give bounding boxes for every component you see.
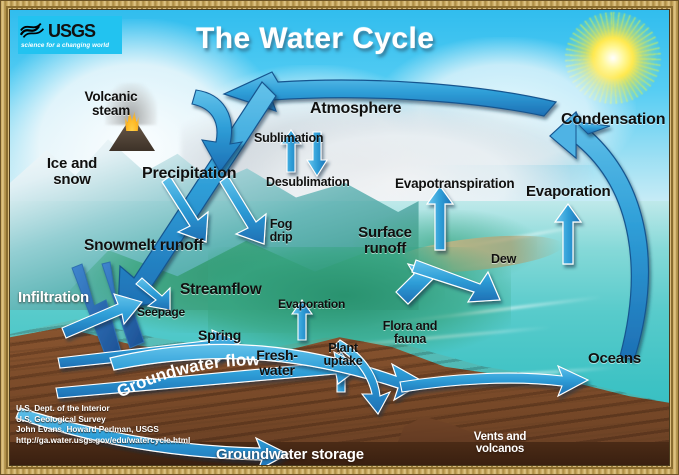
label-streamflow: Streamflow [180,282,262,298]
credit-block: U.S. Dept. of the Interior U.S. Geologic… [16,404,190,447]
label-fog-drip: Fog drip [256,218,306,244]
label-plant-uptake: Plant uptake [312,342,374,368]
label-precipitation: Precipitation [142,166,236,183]
label-seepage: Seepage [137,306,185,318]
label-spring: Spring [198,328,241,343]
usgs-logo-tagline: science for a changing world [20,42,122,49]
water-cycle-poster: Groundwater flow Volcanic steam Atmosphe… [0,0,679,475]
label-flora-and-fauna: Flora and fauna [368,320,452,346]
label-freshwater: Fresh- water [246,348,308,377]
label-evapotranspiration: Evapotranspiration [395,177,514,191]
label-atmosphere: Atmosphere [310,101,401,118]
label-vents-and-volcanos: Vents and volcanos [455,432,545,456]
label-groundwater-storage: Groundwater storage [216,447,364,463]
label-surface-runoff: Surface runoff [337,225,433,256]
label-oceans: Oceans [588,351,641,367]
usgs-logo[interactable]: USGS science for a changing world [18,16,122,54]
label-snowmelt-runoff: Snowmelt runoff [84,238,203,254]
groundwater-flow-label: Groundwater flow [114,350,261,401]
label-volcanic-steam: Volcanic steam [66,90,156,118]
label-evaporation-freshwater: Evaporation [278,298,345,310]
page-title: The Water Cycle [196,22,434,56]
label-evaporation-ocean: Evaporation [526,184,610,200]
label-dew: Dew [491,253,516,266]
usgs-logo-text: USGS [48,22,95,40]
usgs-logo-row: USGS [20,22,122,40]
label-ice-and-snow: Ice and snow [20,156,124,187]
label-desublimation: Desublimation [266,176,350,189]
illustration-stage: Groundwater flow Volcanic steam Atmosphe… [9,9,670,466]
usgs-wave-mark [20,22,46,39]
label-infiltration: Infiltration [18,290,89,306]
label-sublimation: Sublimation [254,132,323,145]
label-condensation: Condensation [561,112,665,129]
